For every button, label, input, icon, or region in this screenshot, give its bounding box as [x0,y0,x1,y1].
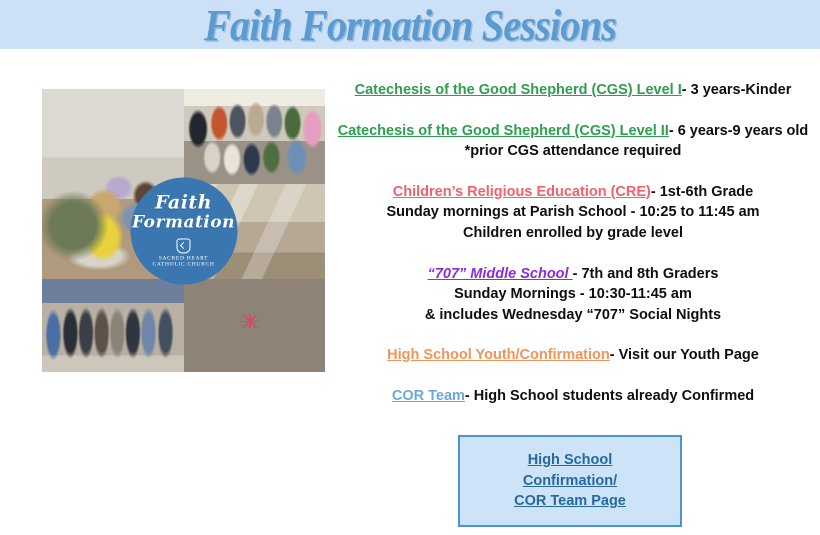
photo-student-group [184,89,326,184]
badge-script-text: Faith Formation [132,193,235,232]
program-headline: Catechesis of the Good Shepherd (CGS) Le… [330,121,816,142]
program-note: Children enrolled by grade level [330,223,816,244]
link-cgs-level-2[interactable]: Catechesis of the Good Shepherd (CGS) Le… [338,123,669,139]
link-cgs-level-1[interactable]: Catechesis of the Good Shepherd (CGS) Le… [355,82,682,98]
cta-link-line-3[interactable]: COR Team Page [514,491,626,512]
program-detail: - Visit our Youth Page [610,347,759,363]
badge-parish-line-2: CATHOLIC CHURCH [153,262,215,268]
program-headline: Catechesis of the Good Shepherd (CGS) Le… [330,80,816,101]
photo-student-with-craft [184,279,326,372]
faith-formation-badge: Faith Formation SACRED HEART CATHOLIC CH… [130,177,237,284]
church-shield-icon [177,238,191,253]
program-headline: Children’s Religious Education (CRE)- 1s… [330,182,816,203]
link-middle-school-707[interactable]: “707” Middle School [428,266,573,282]
program-middle-school-707: “707” Middle School - 7th and 8th Grader… [330,264,816,326]
program-headline: High School Youth/Confirmation- Visit ou… [330,345,816,366]
high-school-confirmation-cta-box[interactable]: High School Confirmation/ COR Team Page [458,435,682,527]
program-cgs-level-2: Catechesis of the Good Shepherd (CGS) Le… [330,121,816,162]
program-detail: - High School students already Confirmed [465,388,754,404]
program-cgs-level-1: Catechesis of the Good Shepherd (CGS) Le… [330,80,816,101]
page-header-banner: Faith Formation Sessions [0,0,820,49]
program-detail: - 3 years-Kinder [682,82,792,98]
faith-formation-programs-list: Catechesis of the Good Shepherd (CGS) Le… [330,80,816,427]
link-cor-team[interactable]: COR Team [392,388,465,404]
program-schedule: Sunday mornings at Parish School - 10:25… [330,202,816,223]
badge-parish-name: SACRED HEART CATHOLIC CHURCH [153,255,215,268]
photo-adult-volunteers [42,279,184,372]
link-high-school-youth-confirmation[interactable]: High School Youth/Confirmation [387,347,610,363]
program-headline: “707” Middle School - 7th and 8th Grader… [330,264,816,285]
program-high-school-youth-confirmation: High School Youth/Confirmation- Visit ou… [330,345,816,366]
program-cor-team: COR Team- High School students already C… [330,386,816,407]
badge-line-1: Faith [155,191,212,213]
program-note: & includes Wednesday “707” Social Nights [330,305,816,326]
badge-line-2: Formation [132,213,235,232]
program-detail: - 7th and 8th Graders [573,266,719,282]
program-note: *prior CGS attendance required [330,141,816,162]
page-title: Faith Formation Sessions [204,4,616,48]
cta-link-line-2[interactable]: Confirmation/ [523,471,617,492]
link-cre[interactable]: Children’s Religious Education (CRE) [393,184,651,200]
cta-link-line-1[interactable]: High School [528,450,613,471]
badge-parish-line-1: SACRED HEART [159,255,208,261]
program-headline: COR Team- High School students already C… [330,386,816,407]
program-detail: - 1st-6th Grade [651,184,753,200]
program-detail: - 6 years-9 years old [669,123,808,139]
program-cre: Children’s Religious Education (CRE)- 1s… [330,182,816,244]
program-schedule: Sunday Mornings - 10:30-11:45 am [330,284,816,305]
faith-formation-photo-collage: Faith Formation SACRED HEART CATHOLIC CH… [42,89,325,372]
